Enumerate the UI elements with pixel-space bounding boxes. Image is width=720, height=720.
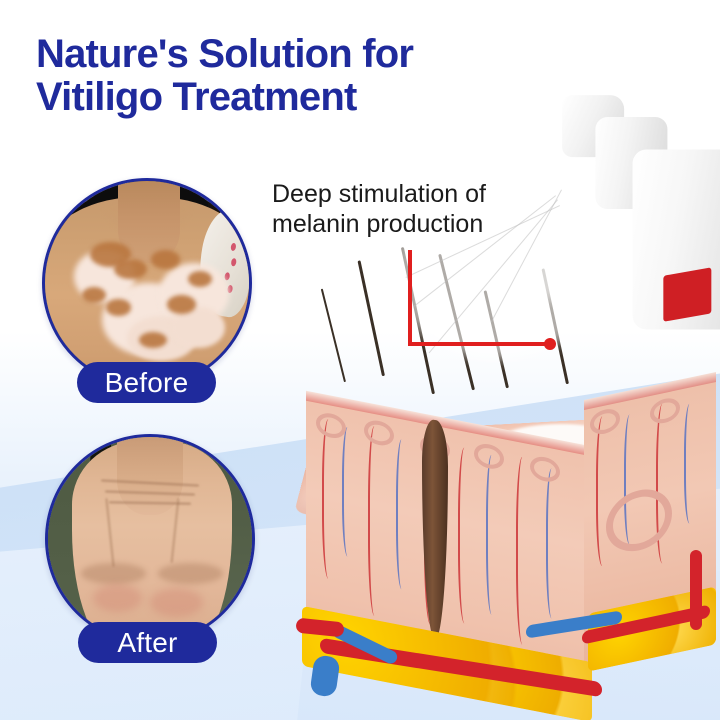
venule-loop (486, 454, 500, 617)
before-photo (42, 178, 252, 388)
pigment-border-spot (114, 259, 147, 279)
capillary-glomerulus (650, 396, 680, 426)
after-photo-artwork (48, 437, 252, 641)
before-badge-label: Before (105, 367, 189, 399)
capillary-loop (516, 456, 532, 647)
pigment-border-spot (151, 250, 180, 268)
clavicle-shadow (158, 563, 223, 583)
capillary-loop (458, 446, 474, 625)
callout-line-1: Deep stimulation of (272, 180, 542, 210)
capillary-glomerulus (474, 441, 504, 471)
after-badge-label: After (117, 627, 177, 659)
clavicle-shadow (81, 563, 146, 583)
headline-line-2: Vitiligo Treatment (36, 76, 556, 119)
skin-cross-section-diagram (288, 300, 720, 710)
artery-riser (690, 550, 702, 630)
leader-vertical-segment (408, 250, 412, 346)
bottle-label (663, 267, 711, 321)
venule-loop (684, 402, 698, 525)
after-badge: After (78, 622, 217, 663)
vein-stump (309, 654, 340, 697)
capillary-glomerulus (316, 411, 346, 441)
capillary-loop (368, 425, 384, 618)
capillary-loop (596, 414, 612, 567)
venule-loop (342, 426, 356, 559)
callout-line-2: melanin production (272, 210, 542, 240)
after-photo (45, 434, 255, 644)
headline-line-1: Nature's Solution for (36, 32, 413, 76)
pigment-border-spot (106, 299, 130, 315)
page-title: Nature's Solution for Vitiligo Treatment (36, 33, 556, 119)
venule-loop (546, 467, 560, 620)
before-badge: Before (77, 362, 216, 403)
pigment-border-spot (167, 295, 196, 313)
capillary-glomerulus (530, 454, 560, 484)
capillary-glomerulus (364, 418, 394, 448)
skin-tone-variation (93, 584, 142, 613)
callout-text: Deep stimulation of melanin production (272, 180, 542, 239)
leader-horizontal-segment (408, 342, 550, 346)
before-photo-artwork (45, 181, 249, 385)
skin-tone-variation (150, 588, 203, 617)
venule-loop (396, 438, 410, 591)
capillary-loop (322, 418, 338, 581)
promo-canvas: Nature's Solution for Vitiligo Treatment (0, 0, 720, 720)
leader-endpoint-dot (544, 338, 556, 350)
capillary-glomerulus (590, 406, 620, 436)
